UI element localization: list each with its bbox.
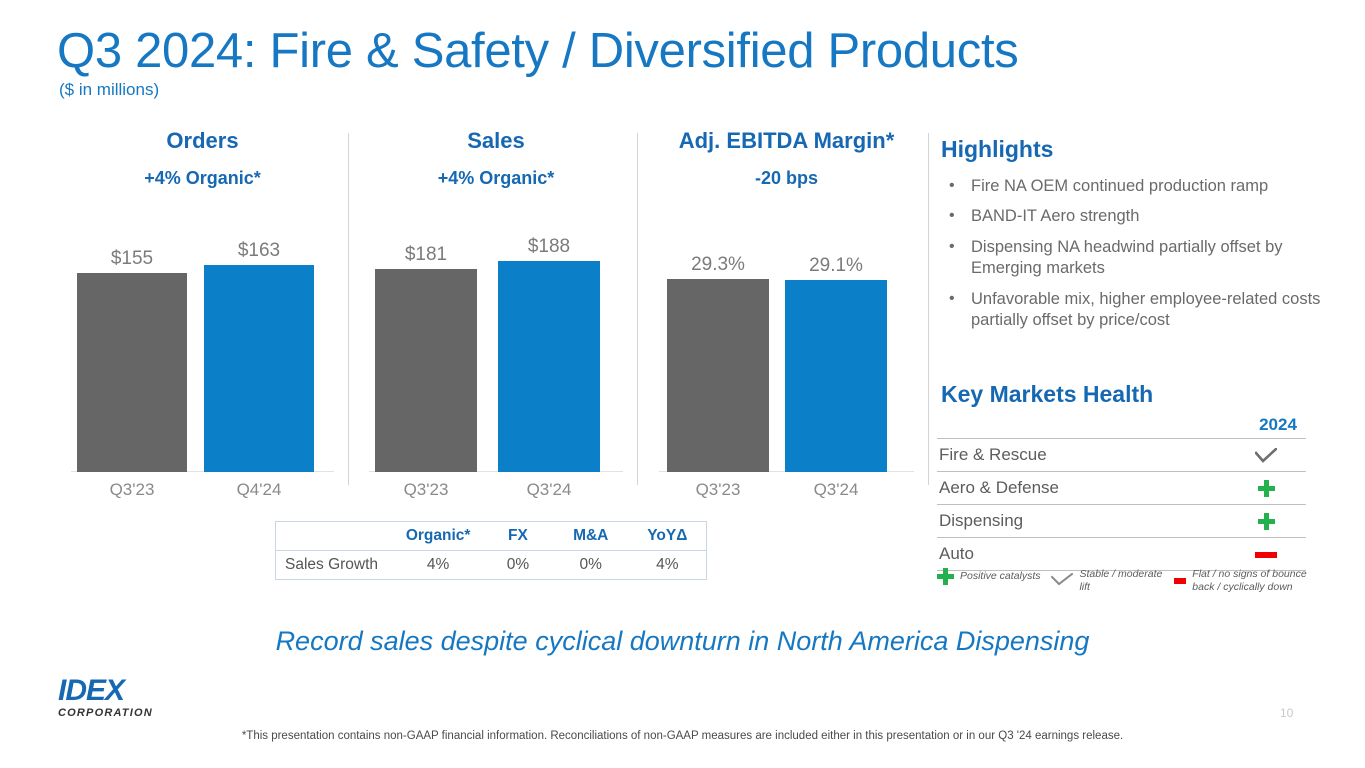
chart-title-ebitda: Adj. EBITDA Margin* <box>645 130 928 152</box>
table-row: Fire & Rescue <box>937 439 1306 472</box>
x-tick-sales-0: Q3'23 <box>375 480 477 500</box>
chart-title-sales: Sales <box>355 130 637 152</box>
cell-yoy: 4% <box>629 551 707 580</box>
key-markets-year-header: 2024 <box>1250 415 1306 435</box>
page-subtitle: ($ in millions) <box>59 80 159 100</box>
dash-icon <box>1255 552 1277 558</box>
table-row: Sales Growth 4% 0% 0% 4% <box>276 551 707 580</box>
list-item: • Unfavorable mix, higher employee-relat… <box>941 289 1341 332</box>
bar-sales-q324 <box>498 261 600 472</box>
table-row: Dispensing <box>937 505 1306 538</box>
bullet-icon: • <box>949 237 955 258</box>
bullet-icon: • <box>949 206 955 227</box>
chart-plot-sales: $181 $188 Q3'23 Q3'24 <box>355 225 637 505</box>
sales-growth-table: Organic* FX M&A YoYΔ Sales Growth 4% 0% … <box>275 521 707 580</box>
chart-panel-orders: Orders +4% Organic* $155 $163 Q3'23 Q4'2… <box>57 130 348 500</box>
market-name: Auto <box>937 538 1226 571</box>
panel-divider-3 <box>928 133 929 485</box>
bar-ebitda-q323 <box>667 279 769 472</box>
list-item-text: Unfavorable mix, higher employee-related… <box>971 290 1320 329</box>
status-cell-aero-defense <box>1226 472 1306 505</box>
bar-group-sales-0: $181 <box>375 260 477 472</box>
bar-value-label: 29.3% <box>667 254 769 276</box>
bar-group-ebitda-1: 29.1% <box>785 273 887 472</box>
plus-icon <box>937 568 954 585</box>
panel-divider-2 <box>637 133 638 485</box>
plus-icon <box>1258 513 1275 530</box>
list-item-text: Dispensing NA headwind partially offset … <box>971 238 1283 277</box>
chart-subtitle-ebitda: -20 bps <box>645 168 928 189</box>
tagline: Record sales despite cyclical downturn i… <box>0 626 1365 657</box>
logo-subtext: CORPORATION <box>58 707 176 719</box>
chart-panel-ebitda: Adj. EBITDA Margin* -20 bps 29.3% 29.1% … <box>645 130 928 500</box>
legend-item-stable: Stable / moderate lift <box>1051 568 1167 594</box>
x-tick-orders-1: Q4'24 <box>204 480 314 500</box>
slide: Q3 2024: Fire & Safety / Diversified Pro… <box>0 0 1365 768</box>
market-name: Aero & Defense <box>937 472 1226 505</box>
col-head-ma: M&A <box>553 522 629 551</box>
highlights-title: Highlights <box>941 136 1053 163</box>
legend-item-flat: Flat / no signs of bounce back / cyclica… <box>1174 568 1317 594</box>
bar-value-label: $188 <box>498 236 600 258</box>
chart-subtitle-sales: +4% Organic* <box>355 168 637 189</box>
bar-orders-q424 <box>204 265 314 472</box>
table-row: Aero & Defense <box>937 472 1306 505</box>
x-tick-sales-1: Q3'24 <box>498 480 600 500</box>
chart-plot-ebitda: 29.3% 29.1% Q3'23 Q3'24 <box>645 225 928 505</box>
chart-subtitle-orders: +4% Organic* <box>57 168 348 189</box>
bar-sales-q323 <box>375 269 477 472</box>
footnote: *This presentation contains non-GAAP fin… <box>0 730 1365 742</box>
plus-icon <box>1258 480 1275 497</box>
list-item: • BAND-IT Aero strength <box>941 206 1341 227</box>
x-tick-ebitda-1: Q3'24 <box>785 480 887 500</box>
cell-fx: 0% <box>483 551 553 580</box>
status-cell-fire-rescue <box>1226 439 1306 472</box>
col-head-organic: Organic* <box>393 522 483 551</box>
legend-label: Flat / no signs of bounce back / cyclica… <box>1192 568 1317 594</box>
bar-group-ebitda-0: 29.3% <box>667 272 769 472</box>
legend-label: Positive catalysts <box>960 570 1041 583</box>
row-label-sales-growth: Sales Growth <box>276 551 394 580</box>
x-tick-orders-0: Q3'23 <box>77 480 187 500</box>
bar-group-orders-1: $163 <box>204 256 314 472</box>
bar-group-orders-0: $155 <box>77 264 187 472</box>
logo-wordmark: IDEX <box>58 676 176 706</box>
list-item-text: BAND-IT Aero strength <box>971 207 1139 225</box>
bar-orders-q323 <box>77 273 187 472</box>
table-row: Auto <box>937 538 1306 571</box>
market-name: Dispensing <box>937 505 1226 538</box>
check-icon <box>1255 448 1277 464</box>
idex-logo: IDEX CORPORATION <box>58 676 176 719</box>
bullet-icon: • <box>949 289 955 310</box>
page-title: Q3 2024: Fire & Safety / Diversified Pro… <box>57 23 1018 79</box>
table-header-row: Organic* FX M&A YoYΔ <box>276 522 707 551</box>
check-icon <box>1051 573 1073 589</box>
dash-icon <box>1174 578 1187 584</box>
market-name: Fire & Rescue <box>937 439 1226 472</box>
status-cell-dispensing <box>1226 505 1306 538</box>
col-head-yoy: YoYΔ <box>629 522 707 551</box>
chart-title-orders: Orders <box>57 130 348 152</box>
col-head-fx: FX <box>483 522 553 551</box>
bar-value-label: $181 <box>375 244 477 266</box>
legend-item-positive: Positive catalysts <box>937 568 1045 585</box>
bullet-icon: • <box>949 176 955 197</box>
bar-value-label: $155 <box>77 248 187 270</box>
key-markets-title: Key Markets Health <box>941 381 1153 408</box>
highlights-list: • Fire NA OEM continued production ramp … <box>941 176 1341 341</box>
list-item: • Dispensing NA headwind partially offse… <box>941 237 1341 280</box>
key-markets-legend: Positive catalysts Stable / moderate lif… <box>937 568 1317 594</box>
status-cell-auto <box>1226 538 1306 571</box>
page-number: 10 <box>1280 706 1293 720</box>
chart-plot-orders: $155 $163 Q3'23 Q4'24 <box>57 225 348 505</box>
chart-panel-sales: Sales +4% Organic* $181 $188 Q3'23 Q3'24 <box>355 130 637 500</box>
bar-value-label: $163 <box>204 240 314 262</box>
x-tick-ebitda-0: Q3'23 <box>667 480 769 500</box>
list-item: • Fire NA OEM continued production ramp <box>941 176 1341 197</box>
key-markets-table: Fire & Rescue Aero & Defense Dispensing <box>937 438 1306 571</box>
panel-divider-1 <box>348 133 349 485</box>
cell-organic: 4% <box>393 551 483 580</box>
bar-ebitda-q324 <box>785 280 887 472</box>
cell-ma: 0% <box>553 551 629 580</box>
col-head-blank <box>276 522 394 551</box>
list-item-text: Fire NA OEM continued production ramp <box>971 177 1268 195</box>
bar-value-label: 29.1% <box>785 255 887 277</box>
legend-label: Stable / moderate lift <box>1079 568 1167 594</box>
bar-group-sales-1: $188 <box>498 252 600 472</box>
